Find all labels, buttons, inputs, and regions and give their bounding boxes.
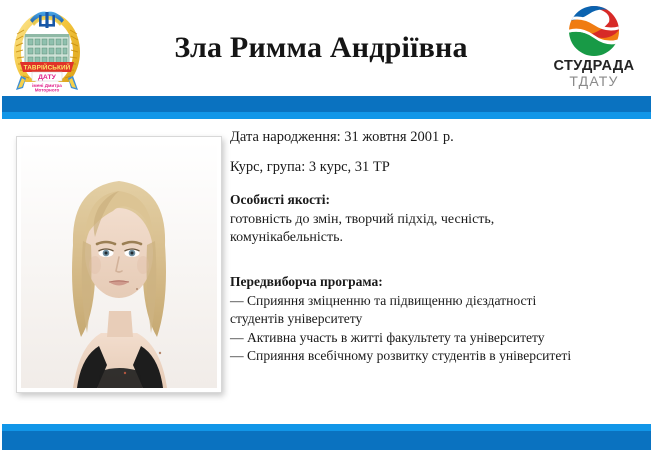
footer-rule-light — [2, 424, 651, 431]
header: ТАВРІЙСЬКИЙ ДАТУ імені Дмитра Моторного … — [0, 0, 651, 96]
page-title: Зла Римма Андріївна — [96, 0, 546, 96]
program-item: — Сприяння всебічному розвитку студентів… — [230, 347, 642, 365]
program-list: — Сприяння зміцненню та підвищенню дієзд… — [230, 292, 642, 364]
header-rule-light — [2, 112, 651, 119]
program-label: Передвиборча програма: — [230, 274, 642, 290]
footer-rule-dark — [2, 431, 651, 450]
studrada-name: СТУДРАДА — [554, 59, 635, 74]
program-item: студентів університету — [230, 310, 642, 328]
svg-text:ТАВРІЙСЬКИЙ: ТАВРІЙСЬКИЙ — [24, 63, 71, 72]
svg-text:Моторного: Моторного — [35, 87, 60, 92]
qualities-line-2: комунікабельність. — [230, 229, 642, 248]
qualities-label: Особисті якості: — [230, 192, 642, 208]
candidate-photo — [21, 141, 217, 388]
course-group: Курс, група: 3 курс, 31 ТР — [230, 159, 642, 175]
candidate-card: ТАВРІЙСЬКИЙ ДАТУ імені Дмитра Моторного … — [0, 0, 651, 450]
university-crest-icon: ТАВРІЙСЬКИЙ ДАТУ імені Дмитра Моторного — [8, 4, 86, 96]
candidate-info: Дата народження: 31 жовтня 2001 р. Курс,… — [230, 129, 642, 365]
qualities-line-1: готовність до змін, творчий підхід, чесн… — [230, 211, 642, 230]
studrada-circle-icon — [563, 4, 625, 58]
header-rule-dark — [2, 96, 651, 112]
student-council-logo: СТУДРАДА ТДАТУ — [547, 4, 641, 96]
studrada-subname: ТДАТУ — [569, 74, 618, 89]
program-section: Передвиборча програма: — Сприяння зміцне… — [230, 274, 642, 365]
candidate-photo-frame — [16, 136, 222, 393]
program-item: — Сприяння зміцненню та підвищенню дієзд… — [230, 292, 642, 310]
birth-date: Дата народження: 31 жовтня 2001 р. — [230, 129, 642, 145]
candidate-name: Зла Римма Андріївна — [174, 33, 467, 63]
svg-text:ДАТУ: ДАТУ — [38, 74, 57, 81]
program-item: — Активна участь в житті факультету та у… — [230, 329, 642, 347]
